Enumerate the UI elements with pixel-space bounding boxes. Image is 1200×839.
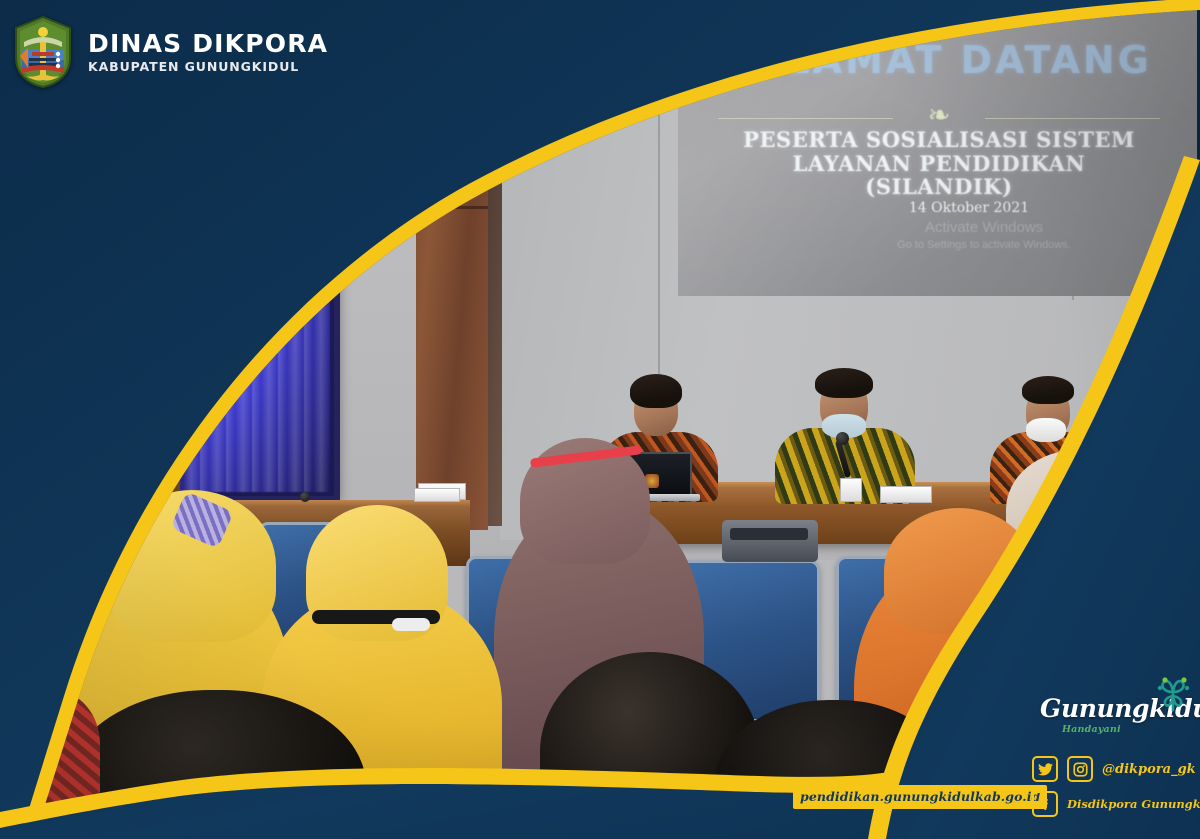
slide-rule-left xyxy=(718,118,893,119)
hijab-head xyxy=(884,508,1034,634)
social-handle-instagram[interactable]: @dikpora_gk xyxy=(1102,762,1196,777)
podium-front-panel xyxy=(18,372,148,424)
projector-vent xyxy=(730,528,808,540)
social-row-twitter-instagram: @dikpora_gk xyxy=(1032,756,1200,782)
event-photograph: SELAMAT DATANG ❧ PESERTA SOSIALISASI SIS… xyxy=(0,0,1200,839)
panelist-hair xyxy=(1022,376,1074,404)
table-microphone xyxy=(300,492,310,502)
projection-screen: SELAMAT DATANG ❧ PESERTA SOSIALISASI SIS… xyxy=(678,0,1200,296)
door-jamb xyxy=(488,96,502,526)
twitter-icon[interactable] xyxy=(1032,756,1058,782)
slide-subtitle-line: LAYANAN PENDIDIKAN xyxy=(678,152,1200,176)
gunungkidul-tagline: Handayani xyxy=(1062,724,1190,735)
face-mask-strap xyxy=(22,494,96,510)
name-card xyxy=(880,486,932,503)
panelist-hair xyxy=(630,374,682,408)
panelist-face-mask xyxy=(1026,418,1066,442)
slide-subtitle: PESERTA SOSIALISASI SISTEM LAYANAN PENDI… xyxy=(678,128,1200,199)
social-handle-facebook[interactable]: Disdikpora Gunungkidul xyxy=(1067,797,1200,811)
gunungkidul-region-logo: Gunungkidul Handayani xyxy=(1040,694,1190,746)
wooden-door-panel xyxy=(416,60,488,530)
curtain-hook xyxy=(126,106,131,115)
brand-header: DINAS DIKPORA KABUPATEN GUNUNGKIDUL xyxy=(12,16,328,88)
audience-member-patterned-shoulder xyxy=(0,690,100,839)
gunungkidul-butterfly-mark-icon xyxy=(1152,676,1196,719)
microphone-head xyxy=(836,432,849,445)
gunungkidul-crest-icon xyxy=(12,16,74,88)
facebook-icon[interactable] xyxy=(1032,791,1058,817)
curtain-hook xyxy=(310,106,315,115)
slide-date: 14 Oktober 2021 xyxy=(678,200,1200,216)
curtain-hook xyxy=(264,106,269,115)
activate-windows-line2: Go to Settings to activate Windows. xyxy=(768,238,1200,253)
brand-title: DINAS DIKPORA xyxy=(88,31,328,56)
wooden-door-seam xyxy=(416,206,488,209)
curtain-rod xyxy=(52,100,352,109)
face-mask-strap xyxy=(392,618,430,631)
social-row-facebook: Disdikpora Gunungkidul xyxy=(1032,791,1200,817)
slide-title: SELAMAT DATANG xyxy=(678,38,1200,82)
slide-rule-right xyxy=(985,118,1160,119)
social-links: @dikpora_gk Disdikpora Gunungkidul xyxy=(1032,756,1200,826)
slide-subtitle-line: (SILANDIK) xyxy=(678,175,1200,199)
panelist-hair xyxy=(815,368,873,398)
website-url-badge[interactable]: pendidikan.gunungkidulkab.go.id xyxy=(793,785,1047,809)
curtain-hook xyxy=(172,106,177,115)
podium-carved-crown xyxy=(0,330,182,356)
desk-equipment xyxy=(414,488,460,502)
poster-canvas: SELAMAT DATANG ❧ PESERTA SOSIALISASI SIS… xyxy=(0,0,1200,839)
curtain-hook xyxy=(218,106,223,115)
instagram-icon[interactable] xyxy=(1067,756,1093,782)
brand-subtitle: KABUPATEN GUNUNGKIDUL xyxy=(88,61,328,74)
windows-activation-watermark: Activate Windows Go to Settings to activ… xyxy=(678,218,1200,253)
name-card xyxy=(840,478,862,502)
slide-ornament: ❧ xyxy=(678,100,1200,131)
activate-windows-line1: Activate Windows xyxy=(768,218,1200,238)
projector xyxy=(722,520,818,562)
curtain-hook xyxy=(80,106,85,115)
slide-subtitle-line: PESERTA SOSIALISASI SISTEM xyxy=(678,128,1200,152)
brand-text: DINAS DIKPORA KABUPATEN GUNUNGKIDUL xyxy=(88,31,328,74)
